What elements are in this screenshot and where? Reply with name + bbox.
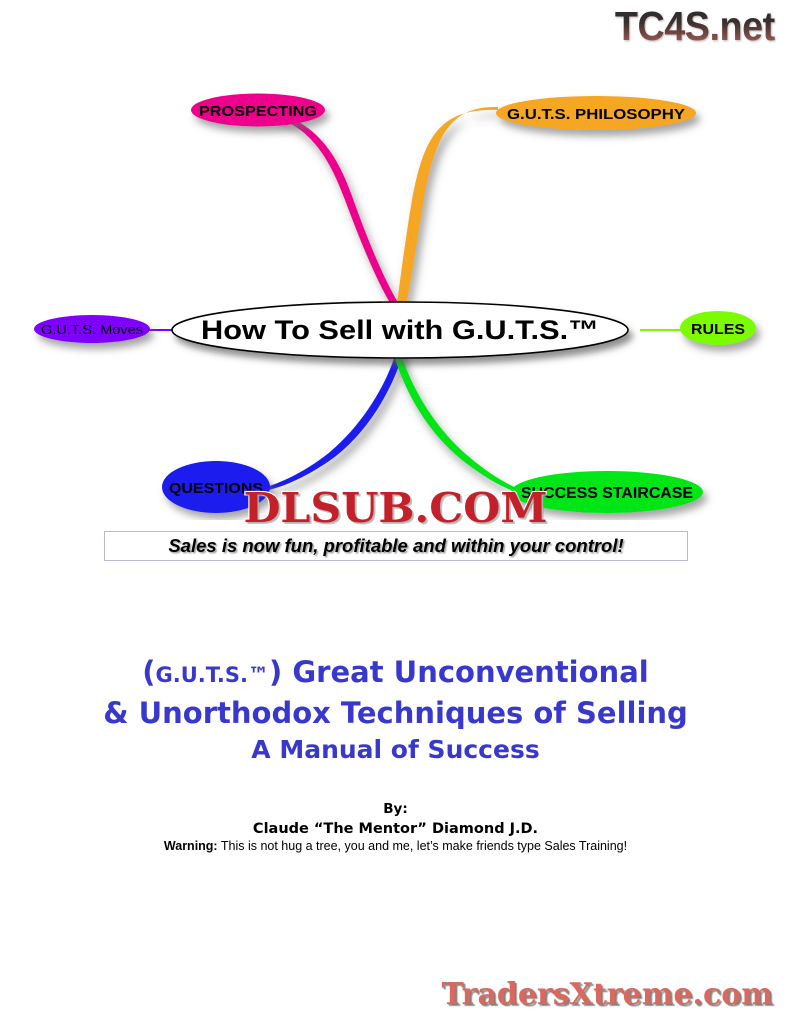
warning-label: Warning: — [164, 839, 218, 853]
branch-line-philosophy — [395, 107, 498, 318]
dlsub-watermark-text: DLSUB.COM — [243, 488, 547, 529]
title-guts-acronym: G.U.T.S.™ — [156, 663, 269, 687]
warning-block: Warning: This is not hug a tree, you and… — [0, 838, 791, 855]
node-rules[interactable]: RULES — [680, 311, 756, 345]
node-guts-moves[interactable]: G.U.T.S. Moves — [34, 315, 150, 343]
node-rules-label: RULES — [691, 321, 745, 338]
tagline-text: Sales is now fun, profitable and within … — [168, 535, 623, 557]
branch-line-prospecting — [215, 107, 408, 318]
byline-label: By: — [0, 800, 791, 819]
node-prospecting-label: PROSPECTING — [199, 104, 317, 120]
page-title-line-1: (G.U.T.S.™) Great Unconventional — [0, 653, 791, 694]
node-center-topic[interactable]: How To Sell with G.U.T.S.™ — [172, 302, 628, 358]
byline-block: By: Claude “The Mentor” Diamond J.D. — [0, 800, 791, 840]
byline-author: Claude “The Mentor” Diamond J.D. — [0, 819, 791, 840]
branch-line-success — [391, 343, 522, 493]
page-title-line-3: A Manual of Success — [0, 732, 791, 768]
tc4s-watermark: TC4S.net — [615, 6, 775, 47]
node-center-topic-label: How To Sell with G.U.T.S.™ — [201, 315, 599, 345]
tagline-box: Sales is now fun, profitable and within … — [104, 531, 688, 561]
dlsub-watermark: DLSUB.COM — [0, 488, 791, 529]
node-guts-moves-label: G.U.T.S. Moves — [41, 323, 143, 337]
node-guts-philosophy-label: G.U.T.S. PHILOSOPHY — [507, 107, 685, 123]
node-prospecting[interactable]: PROSPECTING — [191, 94, 325, 127]
branch-line-questions — [262, 343, 406, 491]
title-paren-open: ( — [142, 655, 155, 689]
branch-connectors — [145, 107, 684, 493]
warning-text: This is not hug a tree, you and me, let’… — [218, 839, 627, 853]
tradersxtreme-watermark: TradersXtreme.com — [442, 980, 773, 1010]
mindmap-diagram: PROSPECTING G.U.T.S. PHILOSOPHY G.U.T.S.… — [0, 60, 791, 520]
title-line1-rest: ) Great Unconventional — [269, 655, 649, 689]
node-guts-philosophy[interactable]: G.U.T.S. PHILOSOPHY — [496, 96, 696, 130]
title-block: (G.U.T.S.™) Great Unconventional & Unort… — [0, 653, 791, 768]
page-title-line-2: & Unorthodox Techniques of Selling — [0, 694, 791, 732]
